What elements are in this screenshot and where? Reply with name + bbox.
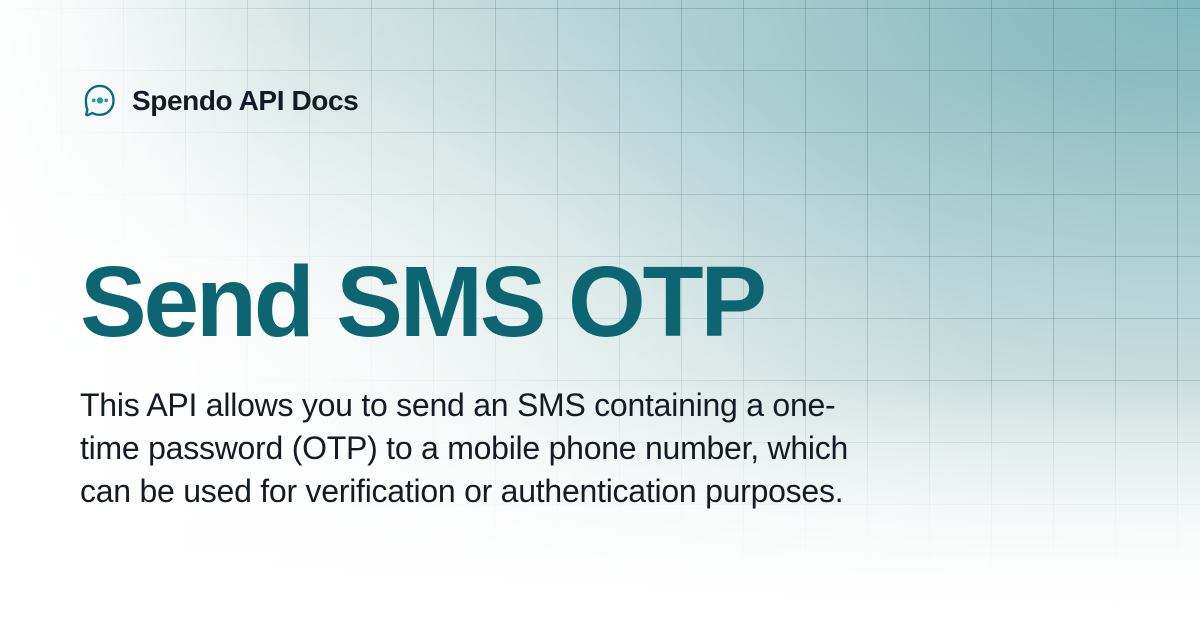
page-title: Send SMS OTP xyxy=(80,252,764,352)
card-content: Spendo API Docs Send SMS OTP This API al… xyxy=(0,0,1200,630)
speech-bubble-dots-icon xyxy=(80,82,118,120)
brand-name: Spendo API Docs xyxy=(132,87,358,115)
og-card: Spendo API Docs Send SMS OTP This API al… xyxy=(0,0,1200,630)
page-description: This API allows you to send an SMS conta… xyxy=(80,384,880,513)
brand-lockup: Spendo API Docs xyxy=(80,82,358,120)
